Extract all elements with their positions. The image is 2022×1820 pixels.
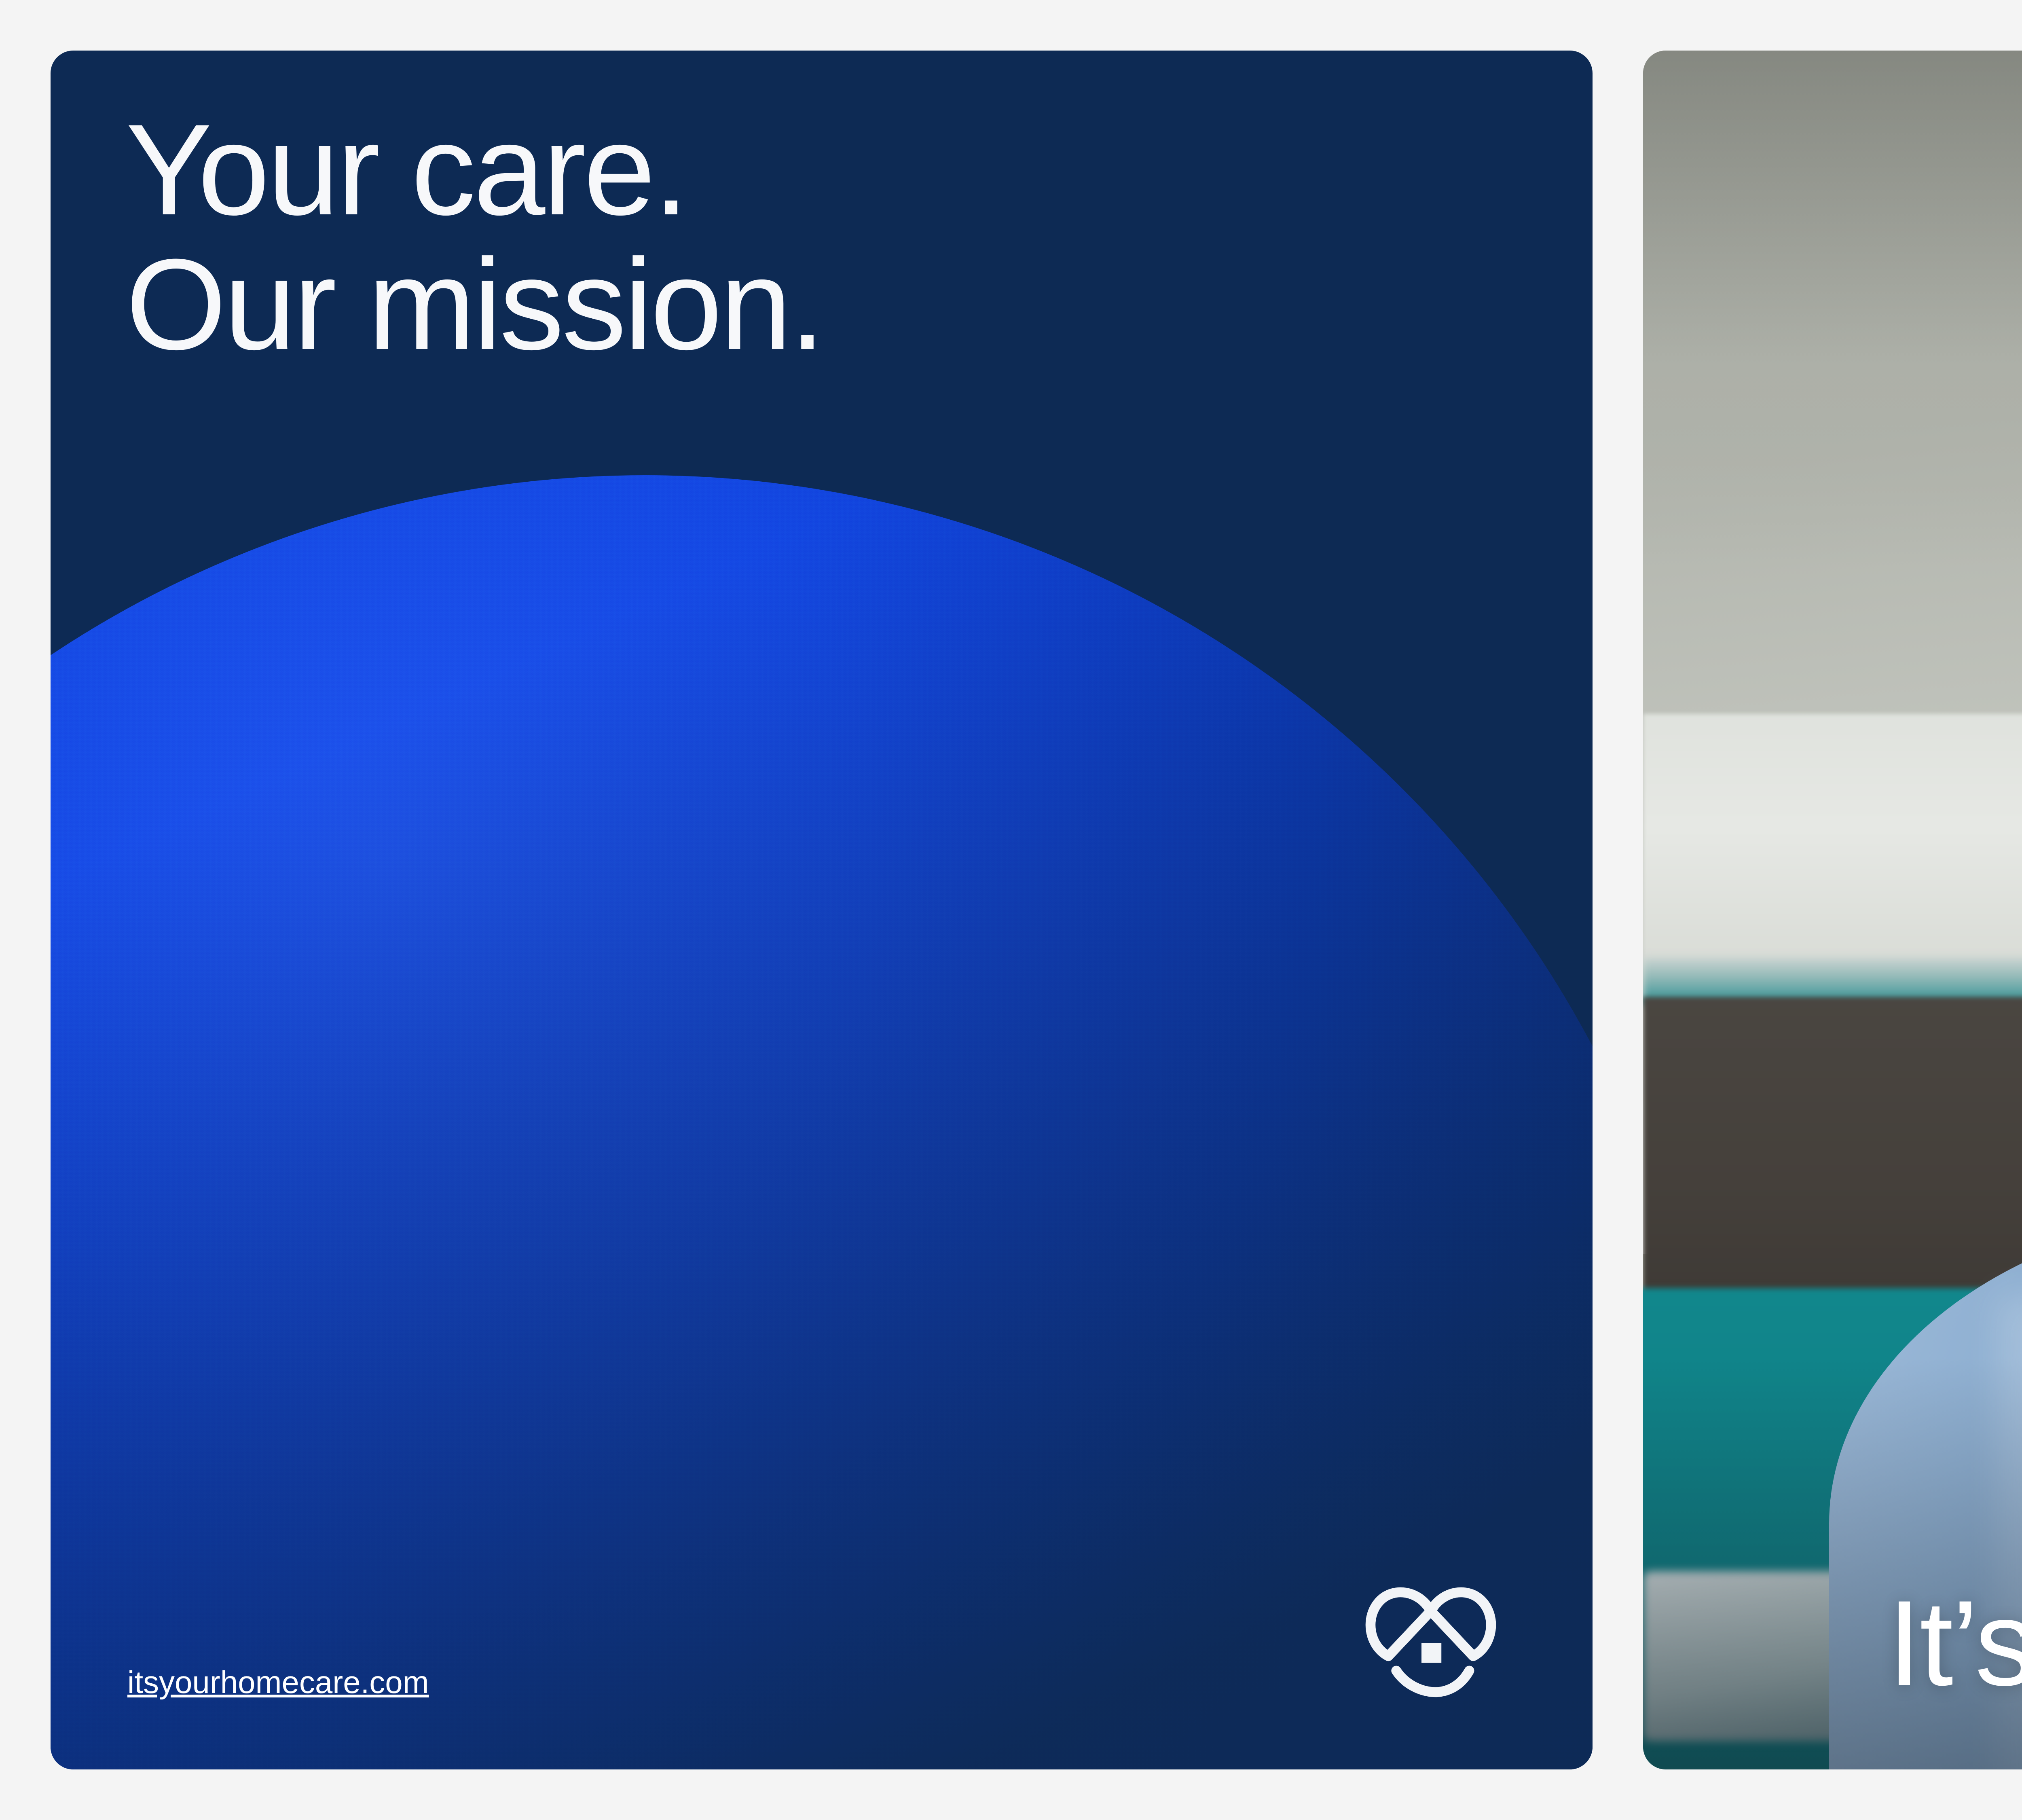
headline-line-1: Your care.: [126, 102, 823, 237]
brand-title: It’s Your Home Care: [1643, 1573, 2022, 1713]
brand-statement-panel: Your care. Our mission. itsyourhomecare.…: [51, 51, 1593, 1769]
poster-stage: Your care. Our mission. itsyourhomecare.…: [0, 0, 2022, 1820]
headline-line-2: Our mission.: [126, 237, 823, 372]
gradient-circle-graphic: [51, 475, 1593, 1769]
brand-logo[interactable]: [1346, 1576, 1516, 1710]
tagline-line-2: Continue Living Their Best Life.: [1643, 211, 2022, 258]
page-title: Your care. Our mission.: [126, 102, 823, 372]
clinic-photo: [1643, 51, 2022, 1769]
nurse-figure: [1950, 277, 2022, 1769]
tagline: We Are Here To Help Your Loved Ones Cont…: [1643, 164, 2022, 258]
tagline-line-1: We Are Here To Help Your Loved Ones: [1643, 164, 2022, 211]
photo-promo-panel: We Are Here To Help Your Loved Ones Cont…: [1643, 51, 2022, 1769]
website-url-link[interactable]: itsyourhomecare.com: [127, 1664, 429, 1701]
